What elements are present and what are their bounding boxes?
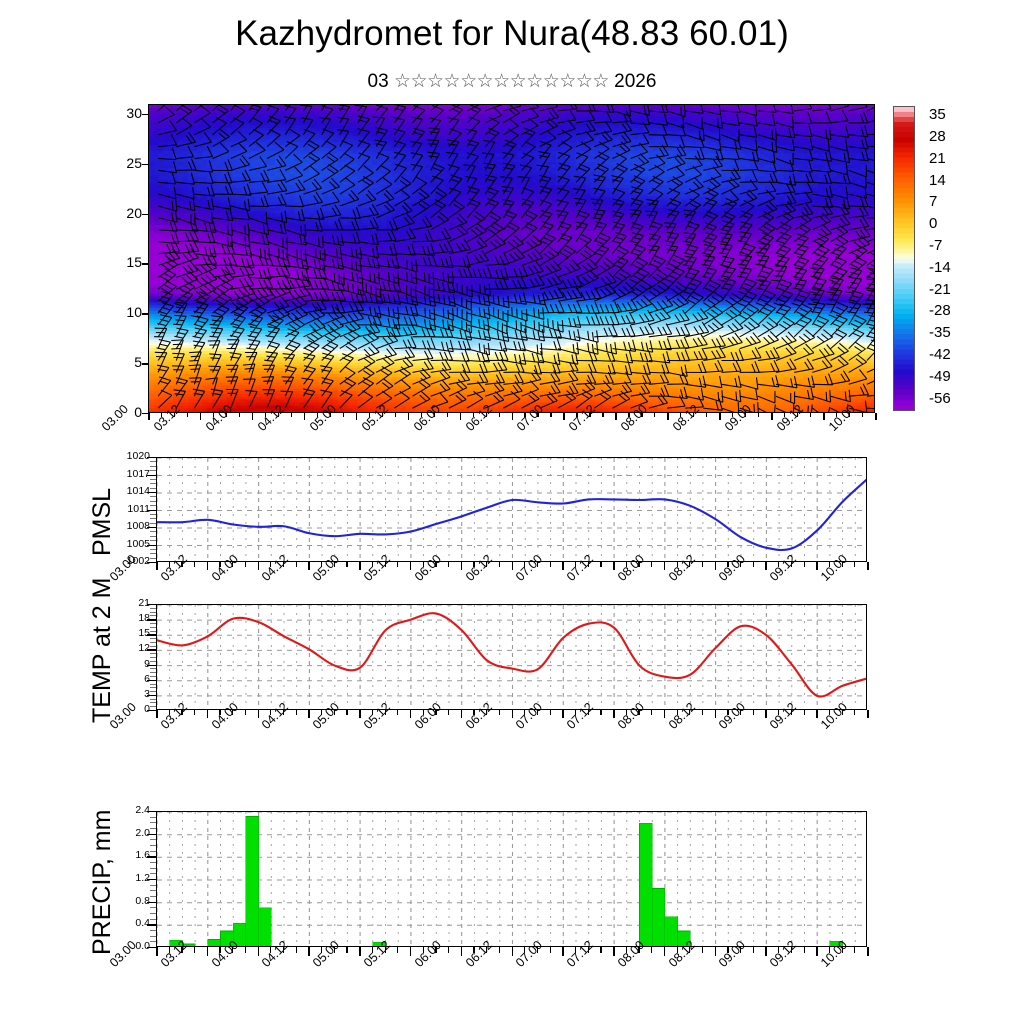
cross-section-xtick-minor — [239, 413, 240, 417]
precip-xtick-minor — [270, 947, 271, 953]
cross-section-ytick-label: 5 — [102, 355, 142, 369]
precip-xtick-minor — [194, 947, 195, 953]
temp2m-xtick-minor — [194, 710, 195, 715]
pmsl-xtick-minor — [626, 562, 627, 567]
precip-xtick — [613, 947, 615, 956]
pmsl-xtick-minor — [638, 562, 639, 567]
pmsl-xtick-label: 03.00 — [107, 552, 139, 584]
cross-section-xtick — [563, 413, 565, 420]
temp2m-xtick-minor — [499, 710, 500, 715]
pmsl-xtick-minor — [194, 562, 195, 567]
cross-section-xtick — [512, 413, 514, 420]
precip-xtick-minor — [727, 947, 728, 953]
pmsl-ytick — [147, 475, 156, 476]
cross-section-xtick-minor — [654, 413, 655, 417]
pmsl-xtick-minor — [346, 562, 347, 567]
temp2m-xtick-minor — [524, 710, 525, 715]
precip-xtick — [765, 947, 767, 956]
precip-xtick-minor — [550, 947, 551, 953]
pmsl-xtick-minor — [283, 562, 284, 567]
temp2m-xtick-minor — [677, 710, 678, 715]
precip-ytick-label: 0.8 — [112, 896, 150, 907]
temp2m-xtick-minor — [588, 710, 589, 715]
temp2m-xtick-minor — [651, 710, 652, 715]
cross-section-ytick-label: 20 — [102, 206, 142, 220]
precip-xtick — [258, 947, 260, 956]
precip-xtick — [410, 947, 412, 956]
temp2m-xtick-minor — [435, 710, 436, 715]
pmsl-xtick-minor — [232, 562, 233, 567]
precip-xtick-minor — [842, 947, 843, 953]
temp2m-xtick-minor — [537, 710, 538, 715]
temp2m-ytick-label: 18 — [112, 613, 150, 624]
temp2m-xtick-minor — [232, 710, 233, 715]
precip-xtick-minor — [423, 947, 424, 953]
pmsl-xtick-minor — [651, 562, 652, 567]
precip-ytick — [147, 947, 156, 948]
pmsl-xtick — [461, 562, 463, 570]
precip-xtick-label: 03.00 — [107, 938, 139, 970]
cross-section-xtick — [667, 413, 669, 420]
precip-axis-caption: PRECIP, mm — [88, 810, 117, 955]
precip-xtick-minor — [600, 947, 601, 953]
pmsl-ytick — [147, 510, 156, 511]
pmsl-xtick-minor — [334, 562, 335, 567]
precip-ytick — [147, 811, 156, 812]
pmsl-xtick-minor — [600, 562, 601, 567]
temp2m-xtick — [562, 710, 564, 718]
cross-section-xtick-minor — [447, 413, 448, 417]
precip-xtick-minor — [334, 947, 335, 953]
pmsl-xtick — [308, 562, 310, 570]
cross-section-ytick — [142, 114, 148, 115]
temp2m-xtick-minor — [727, 710, 728, 715]
temp2m-xtick-minor — [219, 710, 220, 715]
precip-xtick-minor — [181, 947, 182, 953]
pmsl-xtick — [156, 562, 158, 570]
temp2m-xtick — [765, 710, 767, 718]
pmsl-xtick-minor — [499, 562, 500, 567]
temp2m-ytick — [147, 604, 156, 605]
temp2m-ytick — [147, 619, 156, 620]
precip-xtick-minor — [537, 947, 538, 953]
precip-xtick — [867, 947, 869, 956]
temp2m-xtick-minor — [385, 710, 386, 715]
temp2m-xtick — [308, 710, 310, 718]
temp2m-xtick-minor — [702, 710, 703, 715]
precip-xtick-minor — [791, 947, 792, 953]
temp2m-xtick — [207, 710, 209, 718]
cross-section-xtick — [875, 413, 877, 420]
cross-section-xtick — [719, 413, 721, 420]
pmsl-xtick — [207, 562, 209, 570]
colorbar-tick-label: 35 — [929, 106, 946, 123]
precip-xtick — [562, 947, 564, 956]
temp2m-xtick-minor — [169, 710, 170, 715]
temp2m-ytick — [147, 680, 156, 681]
pmsl-xtick-minor — [854, 562, 855, 567]
temperature-colorbar[interactable] — [893, 106, 915, 411]
cross-section-ytick-label: 10 — [102, 305, 142, 319]
pmsl-line-canvas — [157, 458, 867, 562]
precip-xtick-minor — [702, 947, 703, 953]
cross-section-xtick-minor — [395, 413, 396, 417]
temp2m-xtick-minor — [283, 710, 284, 715]
temp2m-xtick — [410, 710, 412, 718]
temp2m-ytick-label: 15 — [112, 628, 150, 639]
temp2m-xtick-minor — [181, 710, 182, 715]
precip-plot[interactable] — [156, 811, 867, 947]
cross-section-xtick — [460, 413, 462, 420]
pmsl-xtick-minor — [296, 562, 297, 567]
pmsl-xtick-minor — [486, 562, 487, 567]
temp2m-xtick-minor — [753, 710, 754, 715]
temp2m-xtick-minor — [423, 710, 424, 715]
pmsl-xtick-minor — [372, 562, 373, 567]
precip-xtick-minor — [778, 947, 779, 953]
cross-section-ytick-label: 15 — [102, 255, 142, 269]
temp2m-xtick — [867, 710, 869, 718]
precip-ytick-label: 1.2 — [112, 873, 150, 884]
temp2m-xtick-minor — [804, 710, 805, 715]
temp2m-ytick — [147, 710, 156, 711]
pmsl-xtick-minor — [575, 562, 576, 567]
precip-xtick — [359, 947, 361, 956]
pmsl-xtick-minor — [397, 562, 398, 567]
cross-section-xtick — [771, 413, 773, 420]
precip-xtick-minor — [626, 947, 627, 953]
precip-xtick-minor — [232, 947, 233, 953]
precip-xtick-minor — [524, 947, 525, 953]
cross-section-xtick-minor — [187, 413, 188, 417]
temp2m-line-canvas — [157, 605, 867, 710]
temp2m-xtick — [359, 710, 361, 718]
temp2m-ytick-label: 12 — [112, 643, 150, 654]
precip-ytick — [147, 924, 156, 925]
precip-xtick — [664, 947, 666, 956]
cross-section-xtick-minor — [550, 413, 551, 417]
precip-xtick-minor — [397, 947, 398, 953]
pmsl-xtick — [562, 562, 564, 570]
temp2m-xtick-minor — [346, 710, 347, 715]
cross-section-ytick-label: 30 — [102, 106, 142, 120]
precip-ytick — [147, 856, 156, 857]
cross-section-xtick — [823, 413, 825, 420]
temp2m-xtick-minor — [334, 710, 335, 715]
temp2m-xtick-minor — [550, 710, 551, 715]
precip-xtick — [207, 947, 209, 956]
precip-xtick — [308, 947, 310, 956]
temp2m-xtick-minor — [448, 710, 449, 715]
precip-xtick-minor — [499, 947, 500, 953]
cross-section-xtick — [148, 413, 150, 420]
colorbar-tick-label: -56 — [929, 390, 951, 407]
precip-xtick-minor — [638, 947, 639, 953]
pmsl-ytick-label: 1017 — [112, 469, 150, 480]
pmsl-ytick-label: 1008 — [112, 521, 150, 532]
precip-xtick-minor — [677, 947, 678, 953]
precip-xtick-minor — [651, 947, 652, 953]
precip-xtick-minor — [575, 947, 576, 953]
pmsl-xtick-minor — [740, 562, 741, 567]
colorbar-tick-label: -42 — [929, 346, 951, 363]
pmsl-xtick — [816, 562, 818, 570]
precip-xtick-minor — [321, 947, 322, 953]
precip-xtick-minor — [804, 947, 805, 953]
pmsl-xtick-minor — [702, 562, 703, 567]
pmsl-ytick — [147, 492, 156, 493]
precip-xtick-minor — [219, 947, 220, 953]
temp2m-ytick-label: 3 — [112, 689, 150, 700]
pmsl-xtick-minor — [550, 562, 551, 567]
cross-section-xtick-minor — [499, 413, 500, 417]
pmsl-xtick-minor — [804, 562, 805, 567]
cross-section-xtick — [356, 413, 358, 420]
pmsl-xtick-minor — [524, 562, 525, 567]
temp2m-ytick — [147, 665, 156, 666]
cross-section-xtick-minor — [810, 413, 811, 417]
cross-section-xtick — [408, 413, 410, 420]
pmsl-ytick-label: 1014 — [112, 486, 150, 497]
colorbar-tick-label: 21 — [929, 150, 946, 167]
pmsl-xtick-minor — [219, 562, 220, 567]
temp2m-ytick-label: 0 — [112, 704, 150, 715]
colorbar-tick-label: 28 — [929, 128, 946, 145]
colorbar-tick-label: 14 — [929, 172, 946, 189]
pmsl-ytick — [147, 562, 156, 563]
temp2m-axis-caption: TEMP at 2 M — [88, 578, 117, 723]
temp2m-xtick-minor — [689, 710, 690, 715]
temp2m-xtick-minor — [473, 710, 474, 715]
temp2m-ytick-label: 9 — [112, 659, 150, 670]
temp2m-xtick-minor — [740, 710, 741, 715]
pmsl-ytick-label: 1011 — [112, 504, 150, 515]
cross-section-xtick-minor — [602, 413, 603, 417]
temp2m-xtick — [715, 710, 717, 718]
pmsl-xtick-minor — [385, 562, 386, 567]
colorbar-tick-label: 7 — [929, 193, 937, 210]
temp2m-xtick — [816, 710, 818, 718]
precip-xtick-minor — [245, 947, 246, 953]
temp2m-xtick-minor — [600, 710, 601, 715]
precip-ytick-label: 2.0 — [112, 828, 150, 839]
precip-ytick — [147, 879, 156, 880]
pmsl-xtick — [765, 562, 767, 570]
pmsl-xtick-minor — [588, 562, 589, 567]
precip-bar-canvas — [157, 812, 867, 947]
precip-ytick-label: 0.4 — [112, 918, 150, 929]
pmsl-xtick-minor — [321, 562, 322, 567]
pmsl-xtick-minor — [753, 562, 754, 567]
pmsl-ytick — [147, 545, 156, 546]
temp2m-xtick — [156, 710, 158, 718]
cross-section-xtick-minor — [343, 413, 344, 417]
colorbar-tick-label: -14 — [929, 259, 951, 276]
pmsl-plot[interactable] — [156, 457, 867, 562]
pmsl-xtick — [613, 562, 615, 570]
temp2m-xtick-minor — [626, 710, 627, 715]
precip-xtick-minor — [372, 947, 373, 953]
temp2m-xtick-minor — [397, 710, 398, 715]
precip-xtick-minor — [346, 947, 347, 953]
pmsl-xtick — [867, 562, 869, 570]
colorbar-tick-label: -35 — [929, 324, 951, 341]
pmsl-axis-caption: PMSL — [88, 488, 117, 556]
temp2m-plot[interactable] — [156, 604, 867, 710]
cross-section-xtick-minor — [706, 413, 707, 417]
pmsl-xtick — [512, 562, 514, 570]
cross-section-ytick — [142, 313, 148, 314]
pmsl-ytick — [147, 527, 156, 528]
precip-xtick-minor — [385, 947, 386, 953]
temp2m-xtick-minor — [638, 710, 639, 715]
precip-xtick-minor — [588, 947, 589, 953]
temp2m-xtick — [258, 710, 260, 718]
colorbar-tick-label: 0 — [929, 215, 937, 232]
pmsl-ytick-label: 1005 — [112, 539, 150, 550]
pmsl-xtick-minor — [423, 562, 424, 567]
colorbar-tick-label: -28 — [929, 302, 951, 319]
colorbar-tick-label: -49 — [929, 368, 951, 385]
cross-section-ytick — [142, 263, 148, 264]
pmsl-xtick-minor — [270, 562, 271, 567]
cross-section-xtick-minor — [758, 413, 759, 417]
cross-section-ytick — [142, 214, 148, 215]
temp2m-xtick-minor — [575, 710, 576, 715]
pmsl-xtick-minor — [778, 562, 779, 567]
precip-xtick — [156, 947, 158, 956]
precip-ytick-label: 2.4 — [112, 805, 150, 816]
precip-xtick-minor — [473, 947, 474, 953]
temp2m-xtick-minor — [854, 710, 855, 715]
pmsl-xtick-minor — [181, 562, 182, 567]
pmsl-xtick — [664, 562, 666, 570]
cross-section-xtick-minor — [862, 413, 863, 417]
precip-xtick-minor — [740, 947, 741, 953]
temp2m-xtick-minor — [270, 710, 271, 715]
temp2m-xtick — [461, 710, 463, 718]
precip-xtick-minor — [689, 947, 690, 953]
precip-ytick-label: 0.0 — [112, 941, 150, 952]
temp2m-xtick-minor — [778, 710, 779, 715]
pmsl-xtick-minor — [473, 562, 474, 567]
pmsl-xtick-minor — [245, 562, 246, 567]
temp2m-xtick-minor — [486, 710, 487, 715]
precip-xtick-minor — [486, 947, 487, 953]
temp2m-ytick-label: 6 — [112, 674, 150, 685]
pmsl-xtick-minor — [435, 562, 436, 567]
cross-section-xtick — [304, 413, 306, 420]
precip-ytick-label: 1.6 — [112, 850, 150, 861]
temp2m-xtick-minor — [296, 710, 297, 715]
cross-section-ytick — [142, 363, 148, 364]
temp2m-xtick-label: 03.00 — [107, 700, 139, 732]
precip-xtick — [816, 947, 818, 956]
pmsl-xtick-minor — [842, 562, 843, 567]
precip-xtick-minor — [296, 947, 297, 953]
temp2m-xtick — [664, 710, 666, 718]
precip-xtick-minor — [435, 947, 436, 953]
temp2m-ytick — [147, 649, 156, 650]
precip-xtick — [461, 947, 463, 956]
precip-xtick-minor — [829, 947, 830, 953]
precip-xtick-minor — [283, 947, 284, 953]
temp2m-xtick-minor — [842, 710, 843, 715]
temp2m-xtick — [512, 710, 514, 718]
cross-section-xtick — [200, 413, 202, 420]
pmsl-xtick — [410, 562, 412, 570]
pmsl-xtick — [715, 562, 717, 570]
pmsl-xtick-minor — [727, 562, 728, 567]
pmsl-xtick-minor — [677, 562, 678, 567]
temp2m-xtick-minor — [829, 710, 830, 715]
pmsl-xtick-minor — [448, 562, 449, 567]
cross-section-plot[interactable] — [148, 104, 875, 413]
precip-xtick-minor — [854, 947, 855, 953]
cross-section-ytick-label: 25 — [102, 156, 142, 170]
cross-section-xtick — [252, 413, 254, 420]
temp2m-xtick-minor — [791, 710, 792, 715]
precip-ytick — [147, 834, 156, 835]
precip-ytick — [147, 902, 156, 903]
cross-section-panel: 051015202530 03.0003.1204.0004.1205.0005… — [0, 0, 1024, 470]
precip-xtick-minor — [753, 947, 754, 953]
pmsl-xtick — [359, 562, 361, 570]
cross-section-xtick — [615, 413, 617, 420]
colorbar-tick-label: -7 — [929, 237, 942, 254]
cross-section-ytick — [142, 164, 148, 165]
temp2m-ytick-label: 21 — [112, 598, 150, 609]
precip-xtick — [715, 947, 717, 956]
cross-section-xtick-minor — [291, 413, 292, 417]
pmsl-xtick-minor — [169, 562, 170, 567]
temp2m-ytick — [147, 634, 156, 635]
temp2m-ytick — [147, 695, 156, 696]
pmsl-xtick-minor — [829, 562, 830, 567]
pmsl-xtick-minor — [689, 562, 690, 567]
colorbar-tick-label: -21 — [929, 281, 951, 298]
temp2m-xtick-minor — [372, 710, 373, 715]
precip-xtick-minor — [169, 947, 170, 953]
pmsl-xtick — [258, 562, 260, 570]
cross-section-canvas — [149, 105, 875, 413]
precip-xtick-minor — [448, 947, 449, 953]
pmsl-xtick-minor — [791, 562, 792, 567]
temp2m-xtick-minor — [321, 710, 322, 715]
precip-xtick — [512, 947, 514, 956]
temp2m-xtick — [613, 710, 615, 718]
pmsl-ytick-label: 1002 — [112, 556, 150, 567]
temp2m-xtick-minor — [245, 710, 246, 715]
pmsl-xtick-minor — [537, 562, 538, 567]
